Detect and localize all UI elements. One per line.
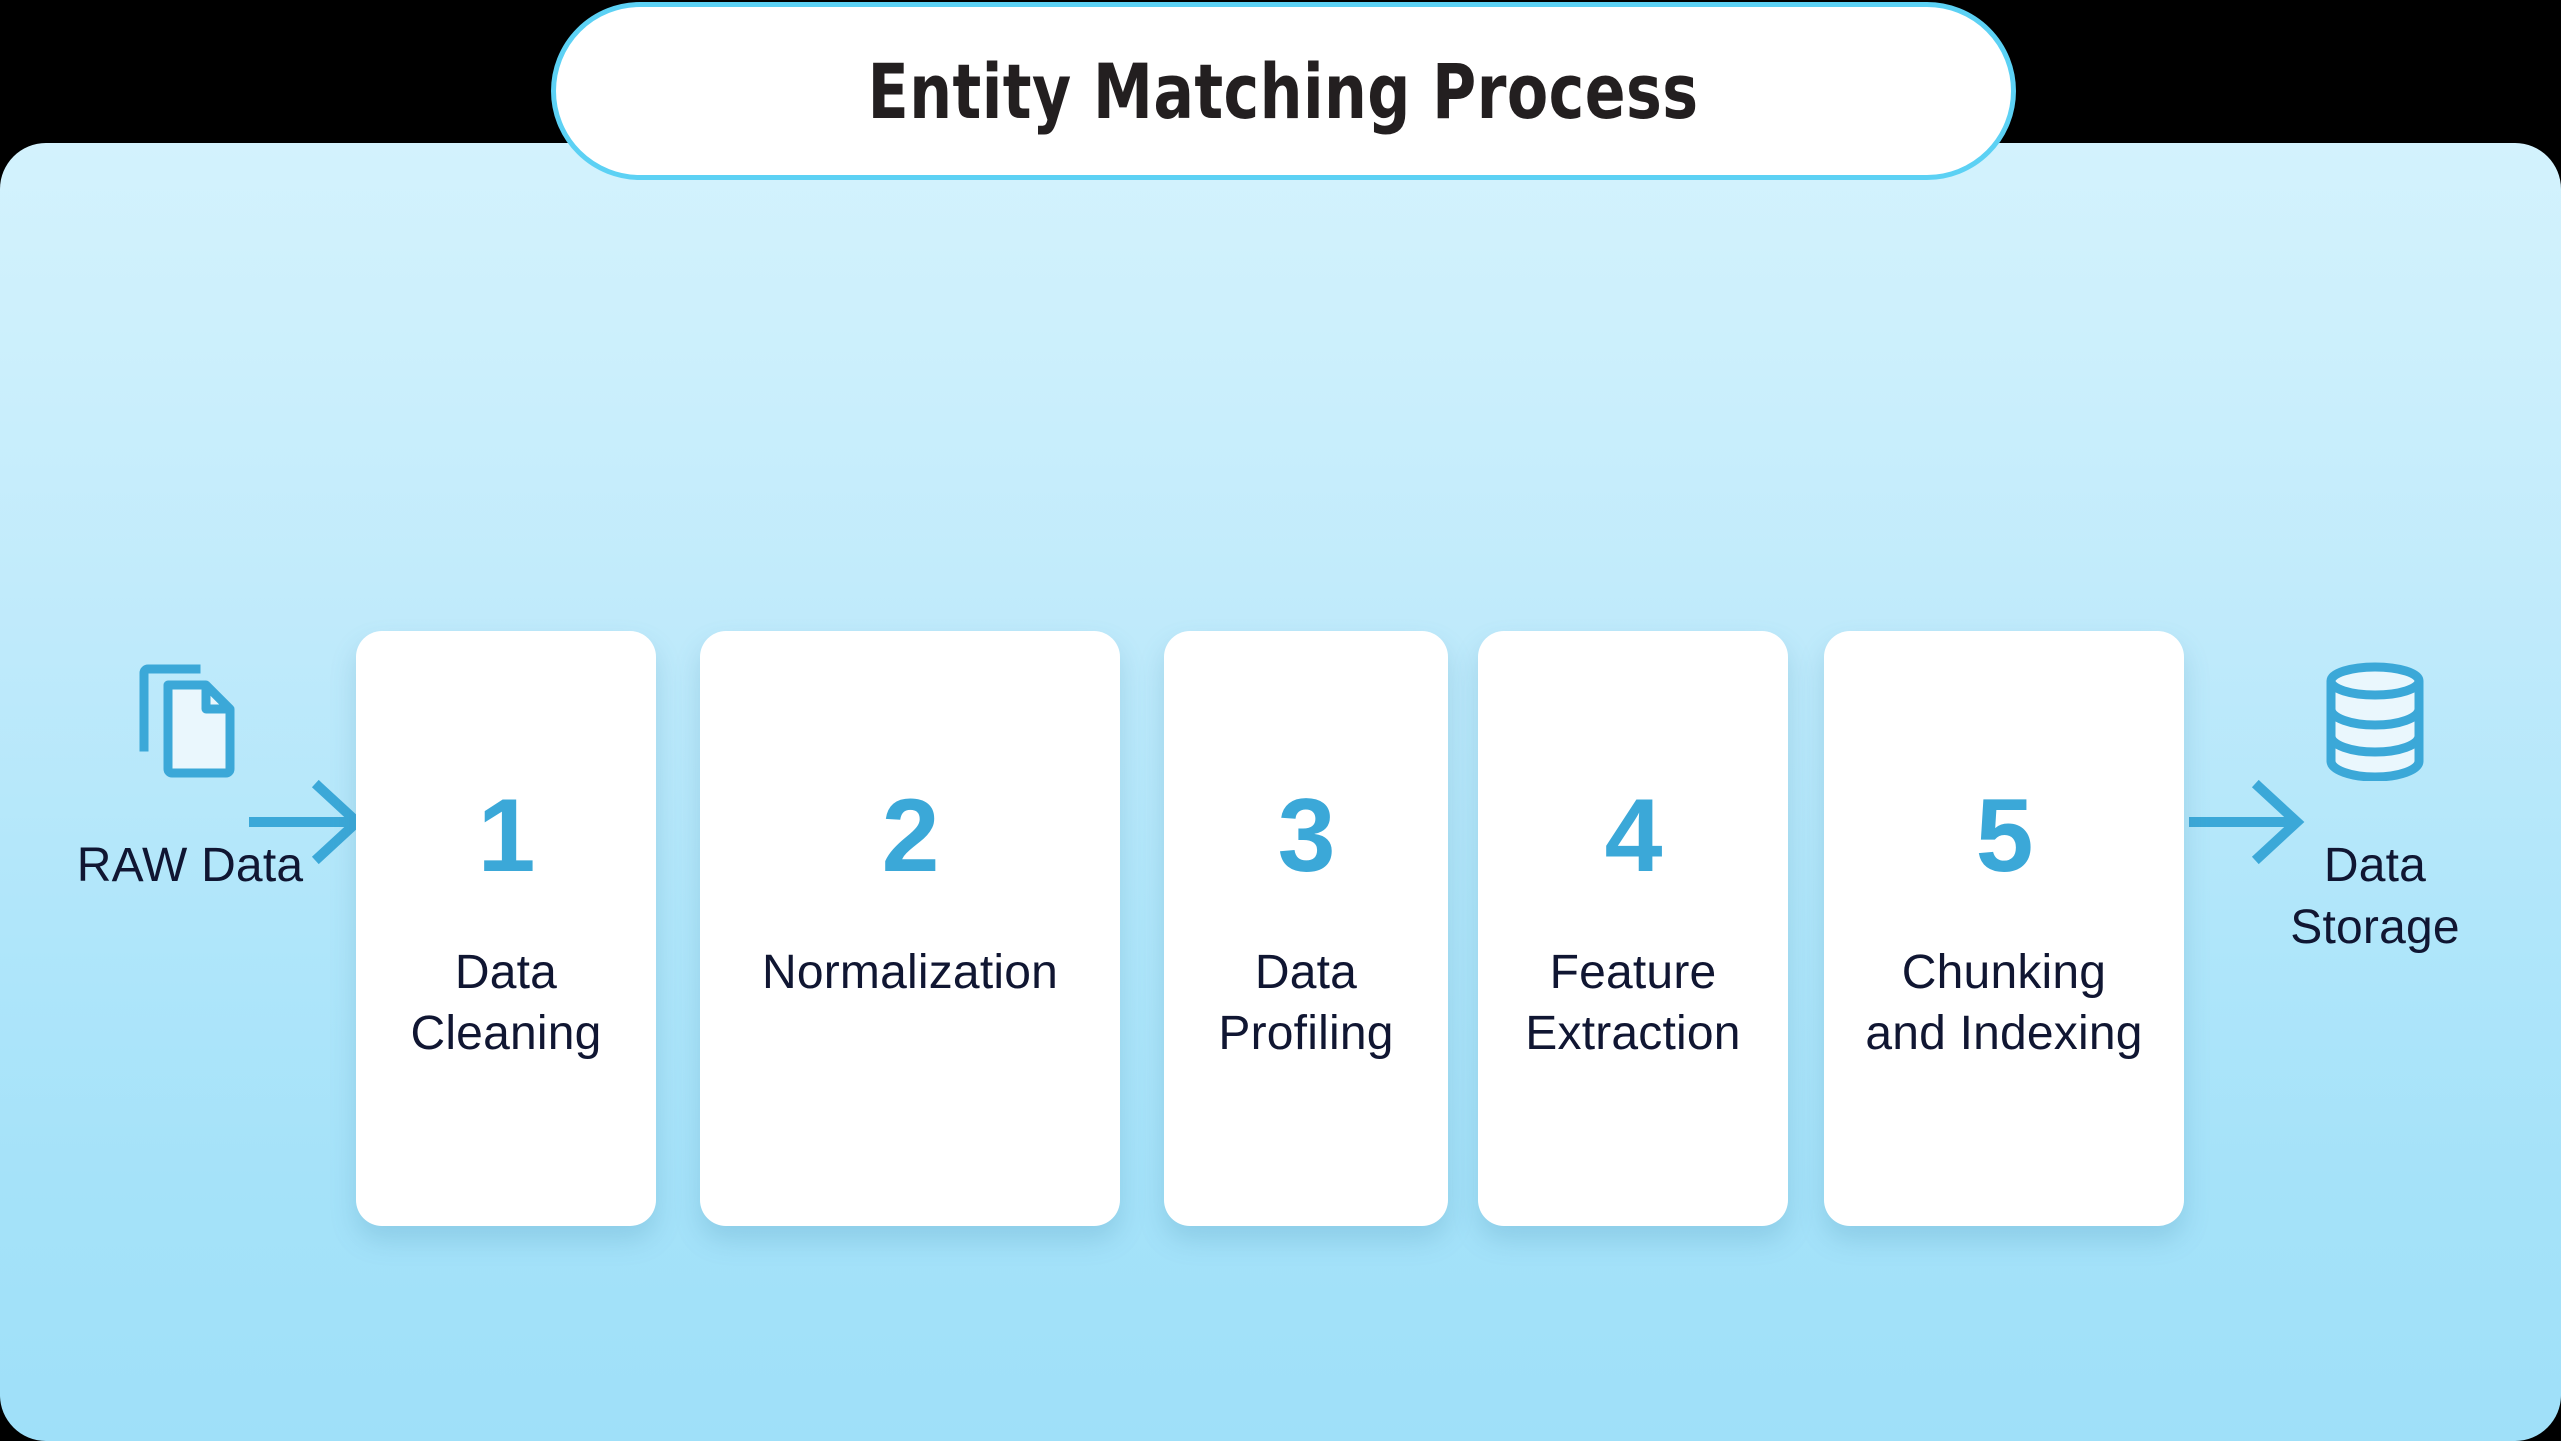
step-number: 5 [1976,784,2033,888]
database-icon [2323,631,2427,811]
flow-output-data-storage: Data Storage [2255,631,2495,1071]
step-number: 4 [1605,784,1662,888]
step-card-1[interactable]: 1 Data Cleaning [356,631,656,1226]
step-number: 2 [882,784,939,888]
step-label: Data Profiling [1218,942,1393,1065]
flow-output-label: Data Storage [2255,835,2495,960]
step-card-2[interactable]: 2 Normalization [700,631,1120,1226]
arrow-input-to-step-1 [247,777,367,867]
step-label: Feature Extraction [1525,942,1740,1065]
page-title: Entity Matching Process [868,47,1699,136]
step-card-5[interactable]: 5 Chunking and Indexing [1824,631,2184,1226]
step-label: Normalization [762,942,1058,1003]
step-label: Data Cleaning [410,942,601,1065]
title-banner: Entity Matching Process [551,2,2016,180]
step-number: 1 [478,784,535,888]
infographic-root: RAW Data 1 Data Cleaning 2 Normalization [0,0,2561,1441]
process-flow: RAW Data 1 Data Cleaning 2 Normalization [0,631,2561,1231]
step-card-4[interactable]: 4 Feature Extraction [1478,631,1788,1226]
documents-icon [134,631,246,811]
main-panel: RAW Data 1 Data Cleaning 2 Normalization [0,143,2561,1441]
step-number: 3 [1278,784,1335,888]
step-label: Chunking and Indexing [1865,942,2142,1065]
step-card-3[interactable]: 3 Data Profiling [1164,631,1448,1226]
